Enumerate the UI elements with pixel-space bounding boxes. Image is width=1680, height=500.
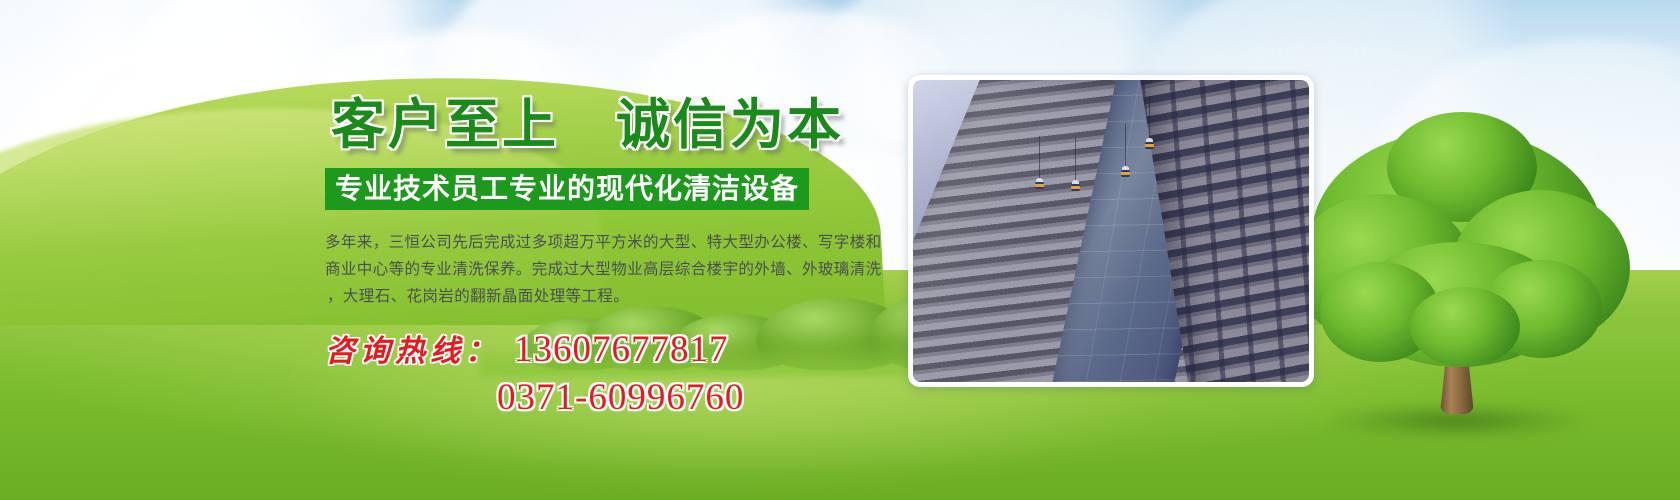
highrise-facade-window-cleaning-photo — [908, 75, 1314, 387]
tree-canopy — [1410, 287, 1520, 367]
worker-vest — [1145, 144, 1154, 147]
banner-headline: 客户至上 诚信为本 — [325, 98, 905, 152]
hotline-row: 咨询热线： 13607677817 — [325, 330, 905, 370]
green-tree — [1292, 112, 1622, 442]
contact-phone-block: 咨询热线： 13607677817 0371-60996760 — [325, 330, 905, 418]
worker-rope — [1039, 136, 1040, 182]
promo-banner: 客户至上 诚信为本 专业技术员工专业的现代化清洁设备 多年来，三恒公司先后完成过… — [0, 0, 1680, 500]
photo-image — [913, 80, 1309, 382]
landline-row: 0371-60996760 — [325, 378, 905, 418]
mobile-phone-number[interactable]: 13607677817 — [514, 330, 729, 370]
body-line: 多年来，三恒公司先后完成过多项超万平方米的大型、特大型办公楼、写字楼和 — [325, 230, 881, 257]
worker-rope — [1125, 124, 1126, 170]
rope-access-worker — [1035, 178, 1044, 194]
sky-blue-patch — [0, 0, 160, 80]
worker-vest — [1071, 186, 1080, 189]
worker-rope — [1149, 96, 1150, 142]
rope-access-worker — [1145, 138, 1154, 154]
banner-body-copy: 多年来，三恒公司先后完成过多项超万平方米的大型、特大型办公楼、写字楼和 商业中心… — [325, 230, 881, 310]
rope-access-worker — [1121, 166, 1130, 182]
body-line: ，大理石、花岗岩的翻新晶面处理等工程。 — [325, 284, 881, 311]
landline-phone-number[interactable]: 0371-60996760 — [497, 378, 744, 418]
rope-access-worker — [1071, 180, 1080, 196]
banner-subtitle-bar: 专业技术员工专业的现代化清洁设备 — [325, 168, 809, 210]
worker-vest — [1035, 184, 1044, 187]
hotline-label: 咨询热线： — [325, 336, 500, 368]
body-line: 商业中心等的专业清洗保养。完成过大型物业高层综合楼宇的外墙、外玻璃清洗 — [325, 257, 881, 284]
worker-vest — [1121, 172, 1130, 175]
banner-text-block: 客户至上 诚信为本 专业技术员工专业的现代化清洁设备 多年来，三恒公司先后完成过… — [325, 98, 905, 418]
worker-rope — [1075, 138, 1076, 184]
sky-blue-patch — [700, 0, 930, 80]
